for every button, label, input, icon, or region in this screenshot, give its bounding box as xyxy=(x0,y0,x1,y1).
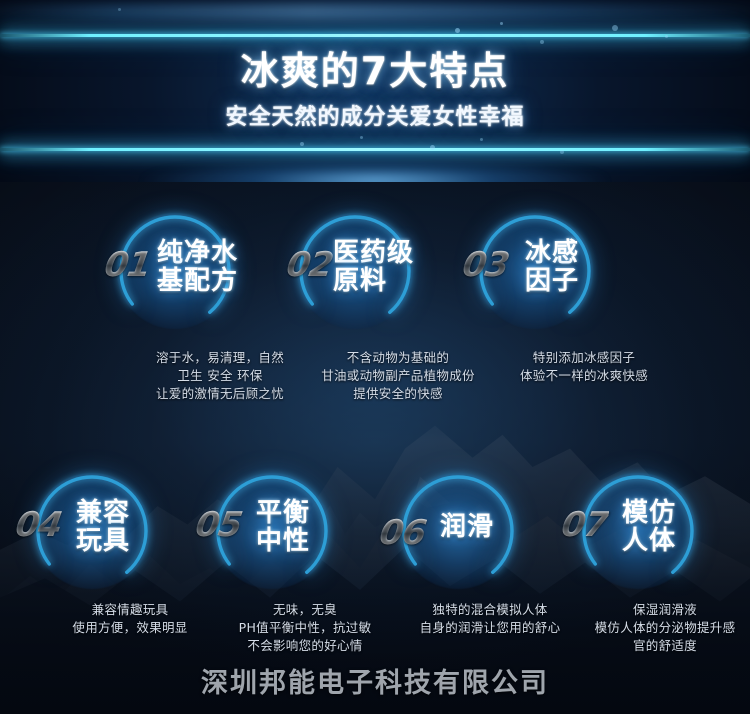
feature-label: 模仿人体 xyxy=(622,500,676,555)
feature-description-line: 兼容情趣玩具 xyxy=(72,601,187,619)
feature-label-line: 玩具 xyxy=(76,528,130,556)
feature-number: 07 xyxy=(559,505,611,545)
feature-label: 冰感因子 xyxy=(525,240,579,295)
feature-description-line: 让爱的激情无后顾之忧 xyxy=(156,385,284,403)
dust-particle xyxy=(665,35,668,38)
banner-soft-band-top xyxy=(0,4,750,20)
dust-particle xyxy=(480,138,483,141)
feature-label-line: 兼容 xyxy=(76,500,130,528)
feature-label-line: 模仿 xyxy=(622,500,676,528)
page-subtitle: 安全天然的成分关爱女性幸福 xyxy=(0,99,750,131)
feature-description-line: 模仿人体的分泌物提升感 xyxy=(595,619,736,637)
feature-description: 独特的混合模拟人体自身的润滑让您用的舒心 xyxy=(420,601,561,637)
feature-label-line: 原料 xyxy=(333,268,414,296)
feature-description-line: 官的舒适度 xyxy=(595,637,736,655)
page-title: 冰爽的7大特点 xyxy=(0,50,750,93)
dust-particle xyxy=(300,142,304,146)
feature-description-line: 不含动物为基础的 xyxy=(321,349,475,367)
feature-label: 兼容玩具 xyxy=(76,500,130,555)
feature-label-line: 因子 xyxy=(525,268,579,296)
feature-description-line: 独特的混合模拟人体 xyxy=(420,601,561,619)
dust-particle xyxy=(118,8,121,11)
feature-label: 平衡中性 xyxy=(256,500,310,555)
feature-description-line: 不会影响您的好心情 xyxy=(239,637,372,655)
feature-label: 纯净水基配方 xyxy=(157,240,238,295)
feature-description: 溶于水，易清理，自然卫生 安全 环保让爱的激情无后顾之忧 xyxy=(156,349,284,403)
feature-description-line: 无味，无臭 xyxy=(239,601,372,619)
dust-particle xyxy=(455,28,460,33)
dust-particle xyxy=(360,136,363,139)
feature-number: 05 xyxy=(193,505,245,545)
feature-label: 医药级原料 xyxy=(333,240,414,295)
feature-number: 01 xyxy=(102,245,154,285)
promo-banner-page: 冰爽的7大特点 安全天然的成分关爱女性幸福 01纯净水基配方溶于水，易清理，自然… xyxy=(0,0,750,714)
feature-description-line: 体验不一样的冰爽快感 xyxy=(520,367,648,385)
dust-particle xyxy=(540,40,544,44)
feature-label-line: 医药级 xyxy=(333,240,414,268)
feature-description-line: 自身的润滑让您用的舒心 xyxy=(420,619,561,637)
feature-label-line: 平衡 xyxy=(256,500,310,528)
feature-number: 04 xyxy=(13,505,65,545)
feature-description-line: 提供安全的快感 xyxy=(321,385,475,403)
dust-particle xyxy=(612,25,618,31)
feature-label-line: 纯净水 xyxy=(157,240,238,268)
feature-description: 无味，无臭PH值平衡中性，抗过敏不会影响您的好心情 xyxy=(239,601,372,655)
banner-neon-line-top xyxy=(0,34,750,37)
feature-number: 06 xyxy=(377,513,429,553)
banner-neon-line-bottom xyxy=(0,148,750,151)
feature-label-line: 基配方 xyxy=(157,268,238,296)
feature-label-line: 冰感 xyxy=(525,240,579,268)
feature-label-line: 中性 xyxy=(256,528,310,556)
dust-particle xyxy=(500,22,503,25)
feature-description: 特别添加冰感因子体验不一样的冰爽快感 xyxy=(520,349,648,385)
feature-description: 保湿润滑液模仿人体的分泌物提升感官的舒适度 xyxy=(595,601,736,655)
feature-description-line: 特别添加冰感因子 xyxy=(520,349,648,367)
feature-description-line: 保湿润滑液 xyxy=(595,601,736,619)
company-watermark: 深圳邦能电子科技有限公司 xyxy=(0,661,750,700)
dust-particle xyxy=(430,145,435,150)
feature-number: 03 xyxy=(460,245,512,285)
feature-description-line: 使用方便，效果明显 xyxy=(72,619,187,637)
feature-label-line: 润滑 xyxy=(440,514,494,542)
dust-particle xyxy=(560,150,564,154)
feature-label: 润滑 xyxy=(440,514,494,542)
feature-description: 兼容情趣玩具使用方便，效果明显 xyxy=(72,601,187,637)
feature-description-line: PH值平衡中性，抗过敏 xyxy=(239,619,372,637)
feature-description-line: 溶于水，易清理，自然 xyxy=(156,349,284,367)
feature-label-line: 人体 xyxy=(622,528,676,556)
feature-description: 不含动物为基础的甘油或动物副产品植物成份提供安全的快感 xyxy=(321,349,475,403)
feature-description-line: 卫生 安全 环保 xyxy=(156,367,284,385)
title-block: 冰爽的7大特点 安全天然的成分关爱女性幸福 xyxy=(0,50,750,131)
banner-bottom-flare xyxy=(60,166,690,182)
feature-number: 02 xyxy=(284,245,336,285)
feature-description-line: 甘油或动物副产品植物成份 xyxy=(321,367,475,385)
